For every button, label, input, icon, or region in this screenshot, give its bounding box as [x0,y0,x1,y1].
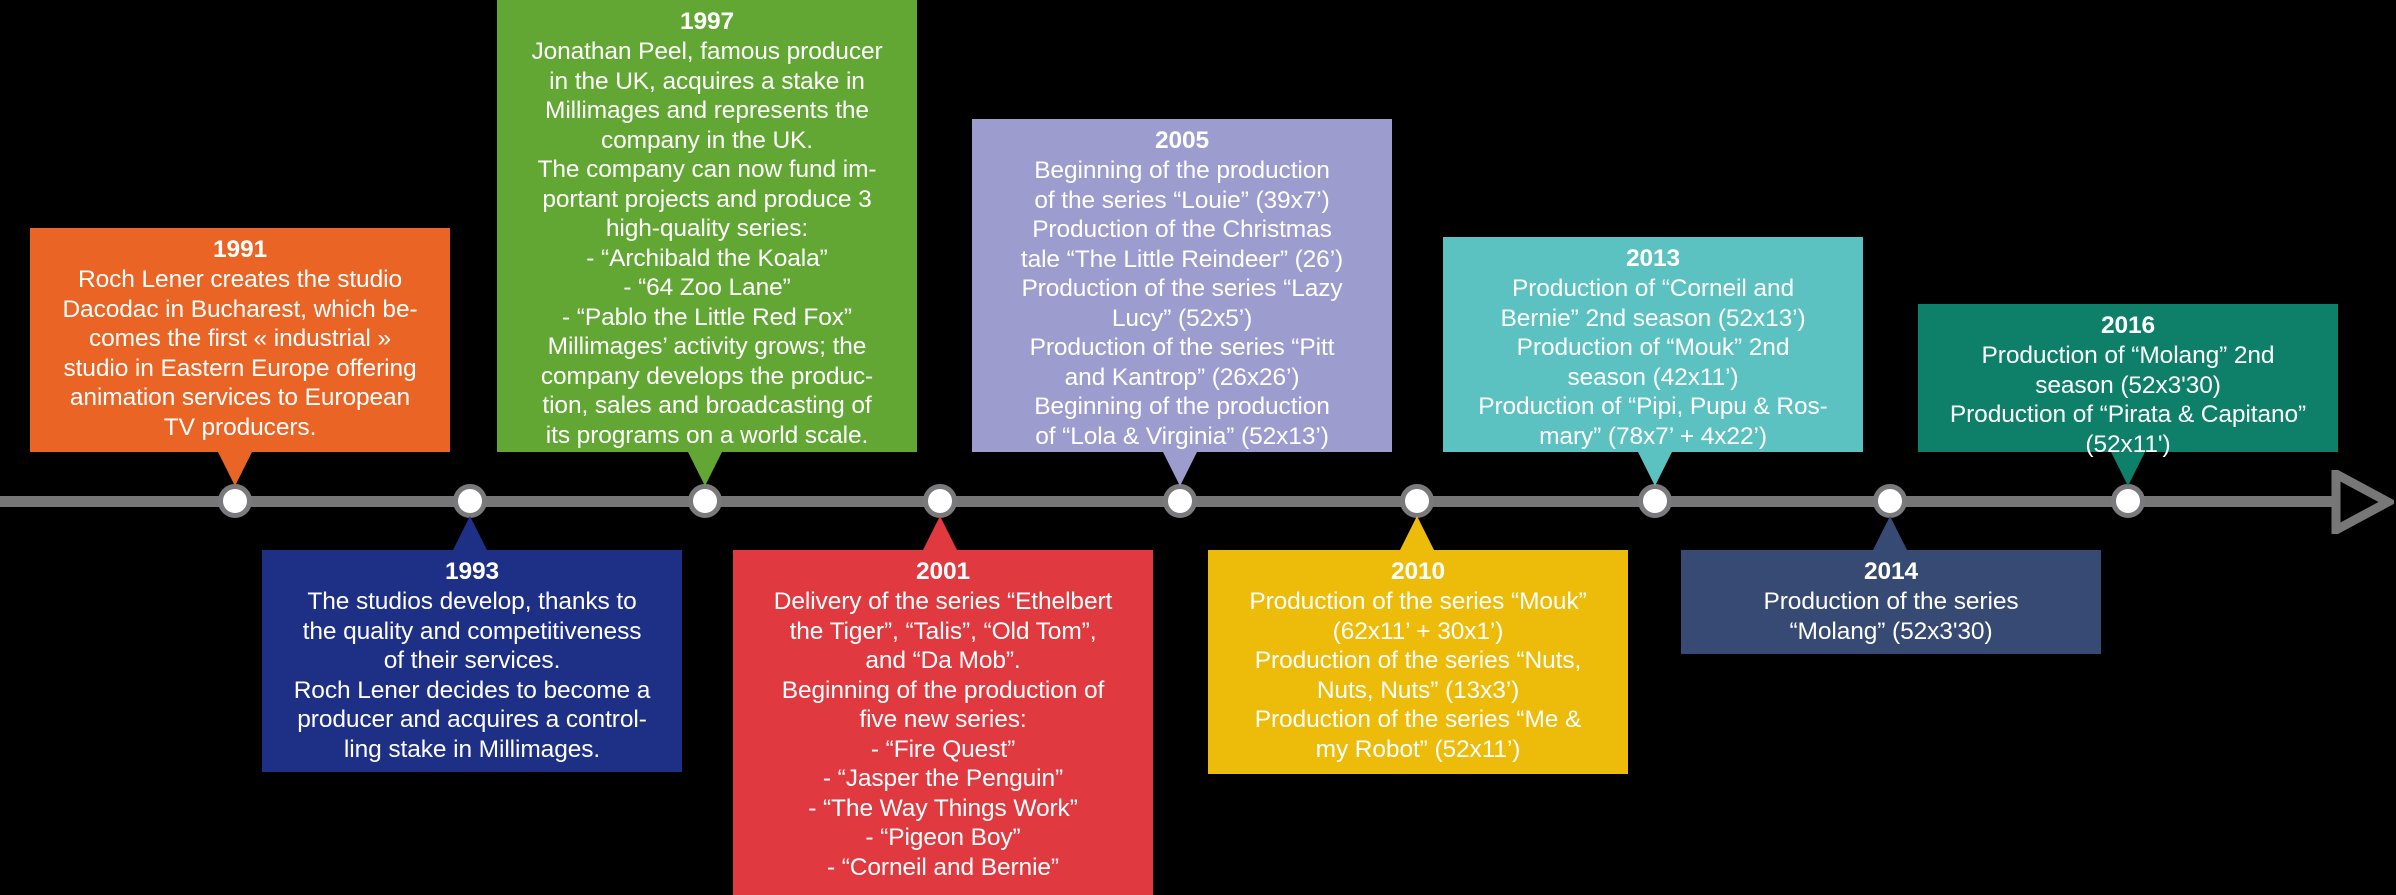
event-year: 2014 [1691,556,2091,587]
timeline-infographic: 1991Roch Lener creates the studio Dacoda… [0,0,2396,890]
timeline-dot[interactable] [923,484,957,518]
event-description: Beginning of the production of the serie… [982,156,1382,451]
event-description: Production of the series “Molang” (52x3'… [1691,587,2091,646]
timeline-dot[interactable] [1400,484,1434,518]
event-pointer [688,452,722,486]
timeline-dot[interactable] [1873,484,1907,518]
timeline-event-card[interactable]: 1997Jonathan Peel, famous producer in th… [497,0,917,452]
event-pointer [1638,452,1672,486]
timeline-event-card[interactable]: 2010Production of the series “Mouk” (62x… [1208,550,1628,774]
timeline-dot[interactable] [453,484,487,518]
event-year: 2016 [1928,310,2328,341]
event-year: 1991 [40,234,440,265]
timeline-event-card[interactable]: 2001Delivery of the series “Ethelbert th… [733,550,1153,895]
timeline-event-card[interactable]: 2016Production of “Molang” 2nd season (5… [1918,304,2338,452]
event-pointer [453,516,487,550]
event-pointer [218,452,252,486]
event-year: 1993 [272,556,672,587]
event-year: 1997 [507,6,907,37]
timeline-event-card[interactable]: 2005Beginning of the production of the s… [972,119,1392,452]
event-pointer [1873,516,1907,550]
event-description: Roch Lener creates the studio Dacodac in… [40,265,440,442]
event-description: Production of “Molang” 2nd season (52x3'… [1928,341,2328,459]
timeline-dot[interactable] [1163,484,1197,518]
timeline-dot[interactable] [218,484,252,518]
event-year: 2005 [982,125,1382,156]
timeline-dot[interactable] [2111,484,2145,518]
event-pointer [923,516,957,550]
timeline-event-card[interactable]: 2014Production of the series “Molang” (5… [1681,550,2101,654]
timeline-event-card[interactable]: 1993The studios develop, thanks to the q… [262,550,682,772]
event-year: 2001 [743,556,1143,587]
event-year: 2010 [1218,556,1618,587]
event-description: Jonathan Peel, famous producer in the UK… [507,37,907,450]
event-pointer [1163,452,1197,486]
event-description: Delivery of the series “Ethelbert the Ti… [743,587,1143,882]
timeline-event-card[interactable]: 2013Production of “Corneil and Bernie” 2… [1443,237,1863,452]
event-description: Production of the series “Mouk” (62x11’ … [1218,587,1618,764]
event-pointer [2111,452,2145,486]
timeline-event-card[interactable]: 1991Roch Lener creates the studio Dacoda… [30,228,450,452]
event-pointer [1400,516,1434,550]
event-description: Production of “Corneil and Bernie” 2nd s… [1453,274,1853,451]
event-year: 2013 [1453,243,1853,274]
timeline-dot[interactable] [1638,484,1672,518]
timeline-dot[interactable] [688,484,722,518]
event-description: The studios develop, thanks to the quali… [272,587,672,764]
